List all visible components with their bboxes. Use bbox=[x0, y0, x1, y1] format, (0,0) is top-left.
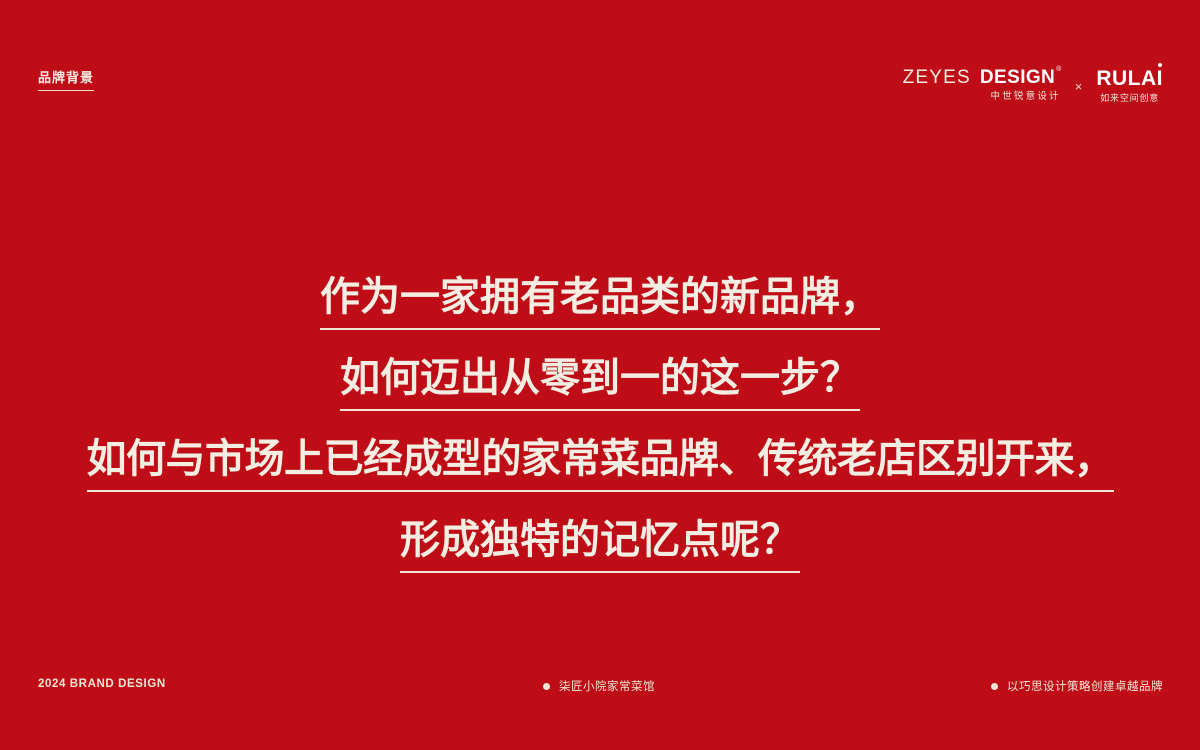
zeyes-word: ZEYES bbox=[903, 68, 971, 87]
registered-trademark-icon: ® bbox=[1056, 66, 1062, 73]
rulai-logo: RULAI 如来空间创意 bbox=[1096, 68, 1163, 103]
footer-brand-name-text: 柒匠小院家常菜馆 bbox=[559, 678, 655, 694]
rulai-dot-icon bbox=[1158, 63, 1162, 67]
headline-line-3: 如何与市场上已经成型的家常菜品牌、传统老店区别开来， bbox=[0, 439, 1200, 492]
logo-lockup: ZEYES DESIGN® 中世锐意设计 × RULAI 如来空间创意 bbox=[903, 64, 1163, 106]
headline-line-4: 形成独特的记忆点呢？ bbox=[0, 520, 1200, 573]
headline-line-4-text: 形成独特的记忆点呢？ bbox=[400, 520, 800, 573]
bullet-dot-icon bbox=[991, 683, 998, 690]
zeyes-design-wordmark: ZEYES DESIGN® bbox=[903, 68, 1061, 87]
rulai-wordmark: RULAI bbox=[1096, 68, 1163, 89]
headline-block: 作为一家拥有老品类的新品牌， 如何迈出从零到一的这一步？ 如何与市场上已经成型的… bbox=[0, 277, 1200, 573]
headline-line-1-text: 作为一家拥有老品类的新品牌， bbox=[320, 277, 880, 330]
rulai-word-text: RULAI bbox=[1096, 67, 1163, 90]
headline-line-1: 作为一家拥有老品类的新品牌， bbox=[0, 277, 1200, 330]
footer-copyright: 2024 BRAND DESIGN bbox=[38, 678, 166, 690]
design-word: DESIGN® bbox=[980, 68, 1061, 87]
bullet-dot-icon bbox=[543, 683, 550, 690]
headline-line-3-text: 如何与市场上已经成型的家常菜品牌、传统老店区别开来， bbox=[87, 439, 1114, 492]
design-word-text: DESIGN bbox=[980, 67, 1055, 88]
logo-separator-x-icon: × bbox=[1074, 80, 1084, 93]
headline-line-2-text: 如何迈出从零到一的这一步？ bbox=[340, 358, 860, 411]
section-tag: 品牌背景 bbox=[38, 70, 94, 91]
zeyes-subtitle: 中世锐意设计 bbox=[991, 92, 1061, 102]
footer-slogan: 以巧思设计策略创建卓越品牌 bbox=[991, 678, 1163, 694]
footer: 2024 BRAND DESIGN 柒匠小院家常菜馆 以巧思设计策略创建卓越品牌 bbox=[0, 660, 1200, 750]
footer-slogan-text: 以巧思设计策略创建卓越品牌 bbox=[1007, 678, 1163, 694]
slide-canvas: 品牌背景 ZEYES DESIGN® 中世锐意设计 × RULAI 如来空间创意… bbox=[0, 0, 1200, 750]
headline-line-2: 如何迈出从零到一的这一步？ bbox=[0, 358, 1200, 411]
zeyes-design-logo: ZEYES DESIGN® 中世锐意设计 bbox=[903, 68, 1061, 102]
footer-brand-name: 柒匠小院家常菜馆 bbox=[543, 678, 655, 694]
rulai-subtitle: 如来空间创意 bbox=[1100, 94, 1159, 103]
